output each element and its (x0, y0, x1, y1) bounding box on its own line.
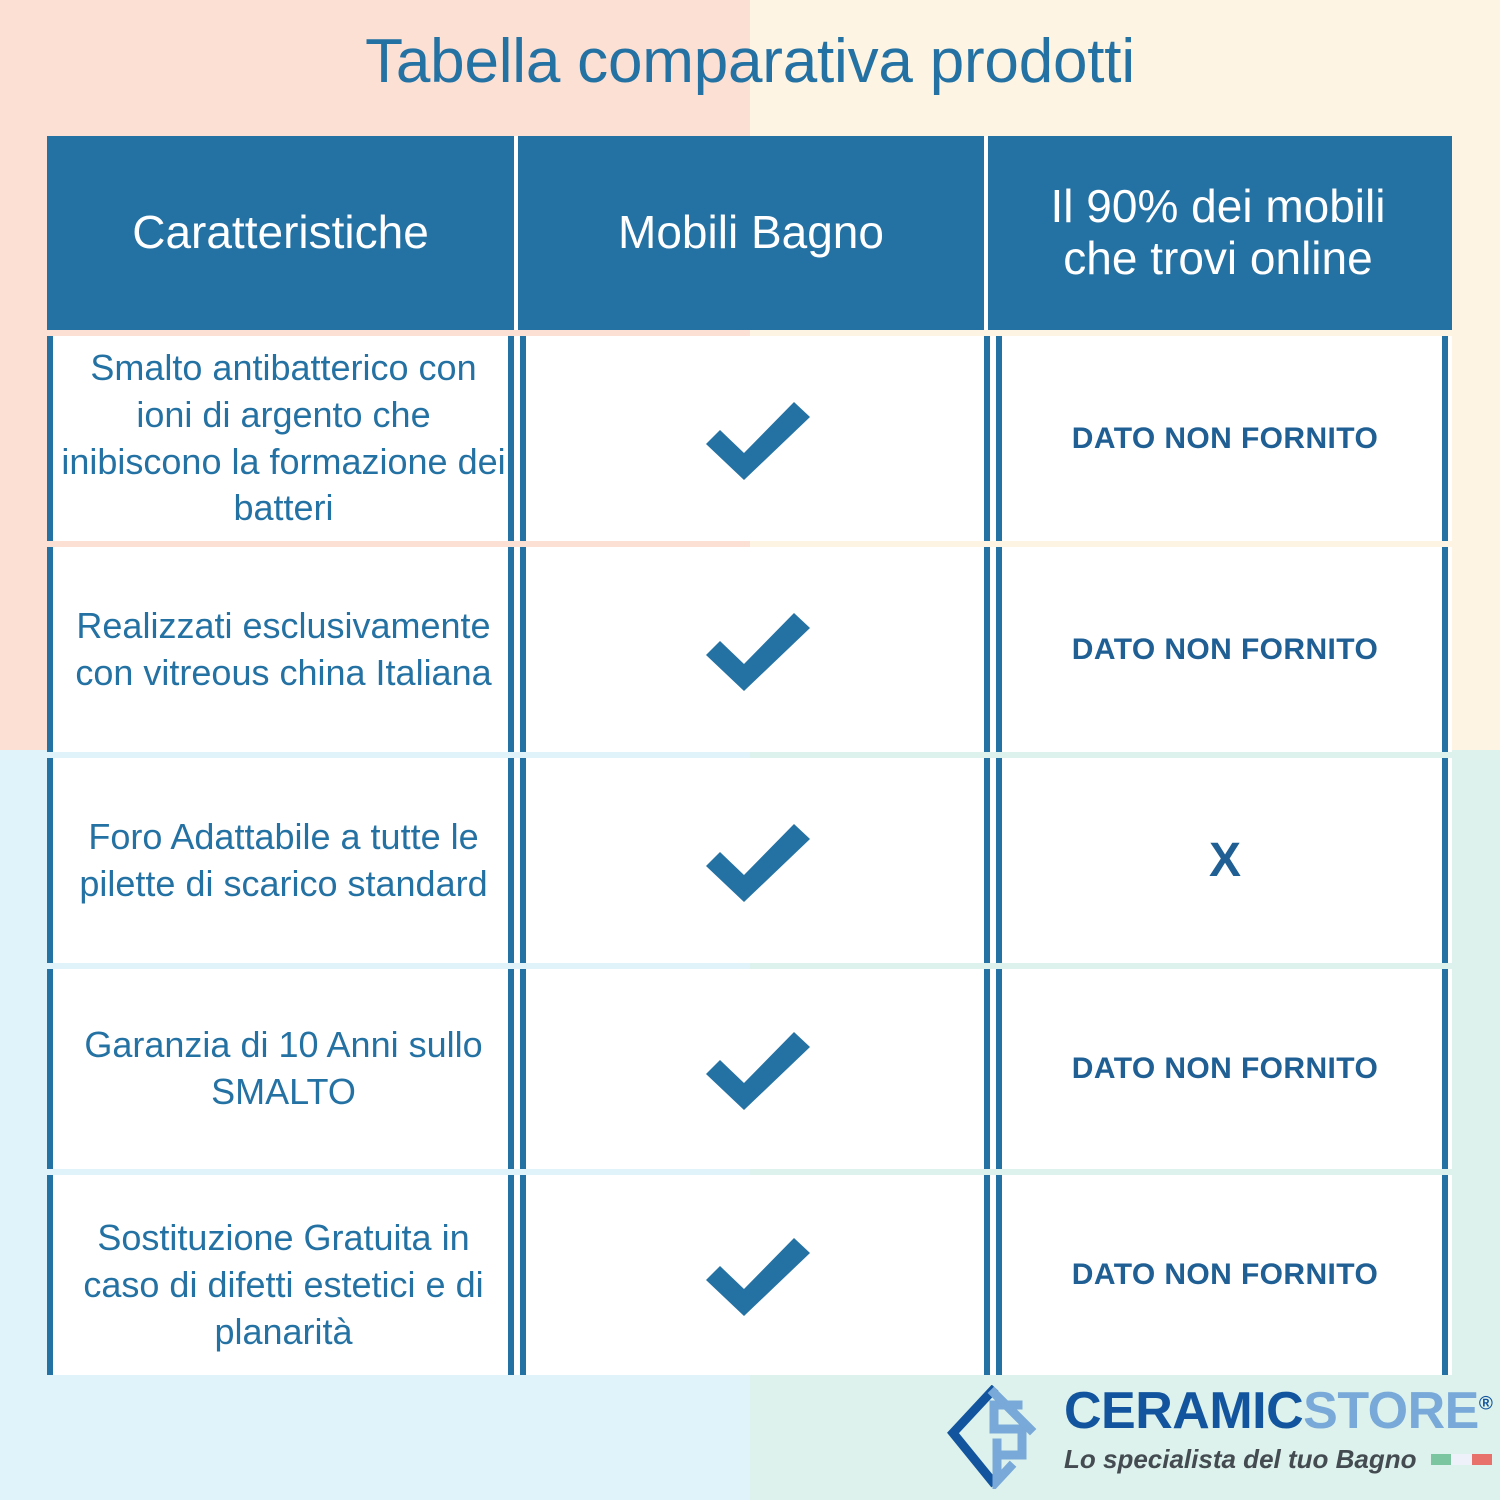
header-label-altri-line1: Il 90% dei mobili (1051, 180, 1386, 232)
feature-label: Foro Adattabile a tutte le pilette di sc… (61, 814, 506, 908)
mobili-bagno-cell (520, 758, 990, 963)
feature-label: Sostituzione Gratuita in caso di difetti… (61, 1215, 506, 1355)
header-label-altri-line2: che trovi online (1063, 232, 1372, 284)
header-label-caratteristiche: Caratteristiche (132, 207, 429, 259)
table-row: Garanzia di 10 Anni sullo SMALTODATO NON… (47, 969, 1452, 1169)
mobili-bagno-cell (520, 1175, 990, 1375)
feature-cell: Smalto antibatterico con ioni di argento… (47, 336, 514, 541)
feature-label: Garanzia di 10 Anni sullo SMALTO (61, 1022, 506, 1116)
table-header-row: Caratteristiche Mobili Bagno Il 90% dei … (47, 136, 1452, 330)
feature-label: Smalto antibatterico con ioni di argento… (61, 345, 506, 532)
check-icon (706, 819, 810, 903)
logo-word-ceramic: CERAMIC (1064, 1382, 1303, 1440)
ceramicstore-diamond-icon (944, 1385, 1050, 1489)
check-icon (706, 1027, 810, 1111)
altri-mobili-cell: DATO NON FORNITO (996, 547, 1448, 752)
registered-trademark-icon: ® (1479, 1394, 1493, 1415)
logo-word-store: STORE (1303, 1382, 1479, 1440)
feature-cell: Foro Adattabile a tutte le pilette di sc… (47, 758, 514, 963)
dato-non-fornito-label: DATO NON FORNITO (1072, 633, 1378, 667)
logo-tagline-text: Lo specialista del tuo Bagno (1064, 1444, 1417, 1475)
mobili-bagno-cell (520, 336, 990, 541)
feature-cell: Sostituzione Gratuita in caso di difetti… (47, 1175, 514, 1375)
dato-non-fornito-label: DATO NON FORNITO (1072, 1258, 1378, 1292)
altri-mobili-cell: DATO NON FORNITO (996, 1175, 1448, 1375)
header-label-altri-mobili: Il 90% dei mobili che trovi online (1051, 181, 1386, 284)
mobili-bagno-cell (520, 969, 990, 1169)
cross-mark: X (1209, 833, 1241, 888)
header-cell-caratteristiche: Caratteristiche (47, 136, 514, 330)
italian-flag-icon (1431, 1454, 1493, 1465)
altri-mobili-cell: X (996, 758, 1448, 963)
logo-wordmark: CERAMICSTORE® (1064, 1385, 1493, 1437)
table-body: Smalto antibatterico con ioni di argento… (47, 330, 1452, 1375)
comparison-table: Caratteristiche Mobili Bagno Il 90% dei … (47, 136, 1452, 1375)
feature-label: Realizzati esclusivamente con vitreous c… (61, 603, 506, 697)
table-row: Foro Adattabile a tutte le pilette di sc… (47, 758, 1452, 963)
header-cell-mobili-bagno: Mobili Bagno (514, 136, 984, 330)
table-row: Smalto antibatterico con ioni di argento… (47, 336, 1452, 541)
dato-non-fornito-label: DATO NON FORNITO (1072, 422, 1378, 456)
page-title: Tabella comparativa prodotti (0, 26, 1500, 97)
altri-mobili-cell: DATO NON FORNITO (996, 969, 1448, 1169)
feature-cell: Realizzati esclusivamente con vitreous c… (47, 547, 514, 752)
logo-tagline-row: Lo specialista del tuo Bagno (1064, 1444, 1493, 1475)
feature-cell: Garanzia di 10 Anni sullo SMALTO (47, 969, 514, 1169)
mobili-bagno-cell (520, 547, 990, 752)
altri-mobili-cell: DATO NON FORNITO (996, 336, 1448, 541)
check-icon (706, 397, 810, 481)
header-label-mobili-bagno: Mobili Bagno (618, 207, 884, 259)
dato-non-fornito-label: DATO NON FORNITO (1072, 1052, 1378, 1086)
ceramicstore-logo[interactable]: CERAMICSTORE® Lo specialista del tuo Bag… (944, 1383, 1464, 1493)
logo-text-block: CERAMICSTORE® Lo specialista del tuo Bag… (1064, 1383, 1493, 1475)
table-row: Sostituzione Gratuita in caso di difetti… (47, 1175, 1452, 1375)
header-cell-altri-mobili: Il 90% dei mobili che trovi online (984, 136, 1448, 330)
check-icon (706, 608, 810, 692)
table-row: Realizzati esclusivamente con vitreous c… (47, 547, 1452, 752)
check-icon (706, 1233, 810, 1317)
